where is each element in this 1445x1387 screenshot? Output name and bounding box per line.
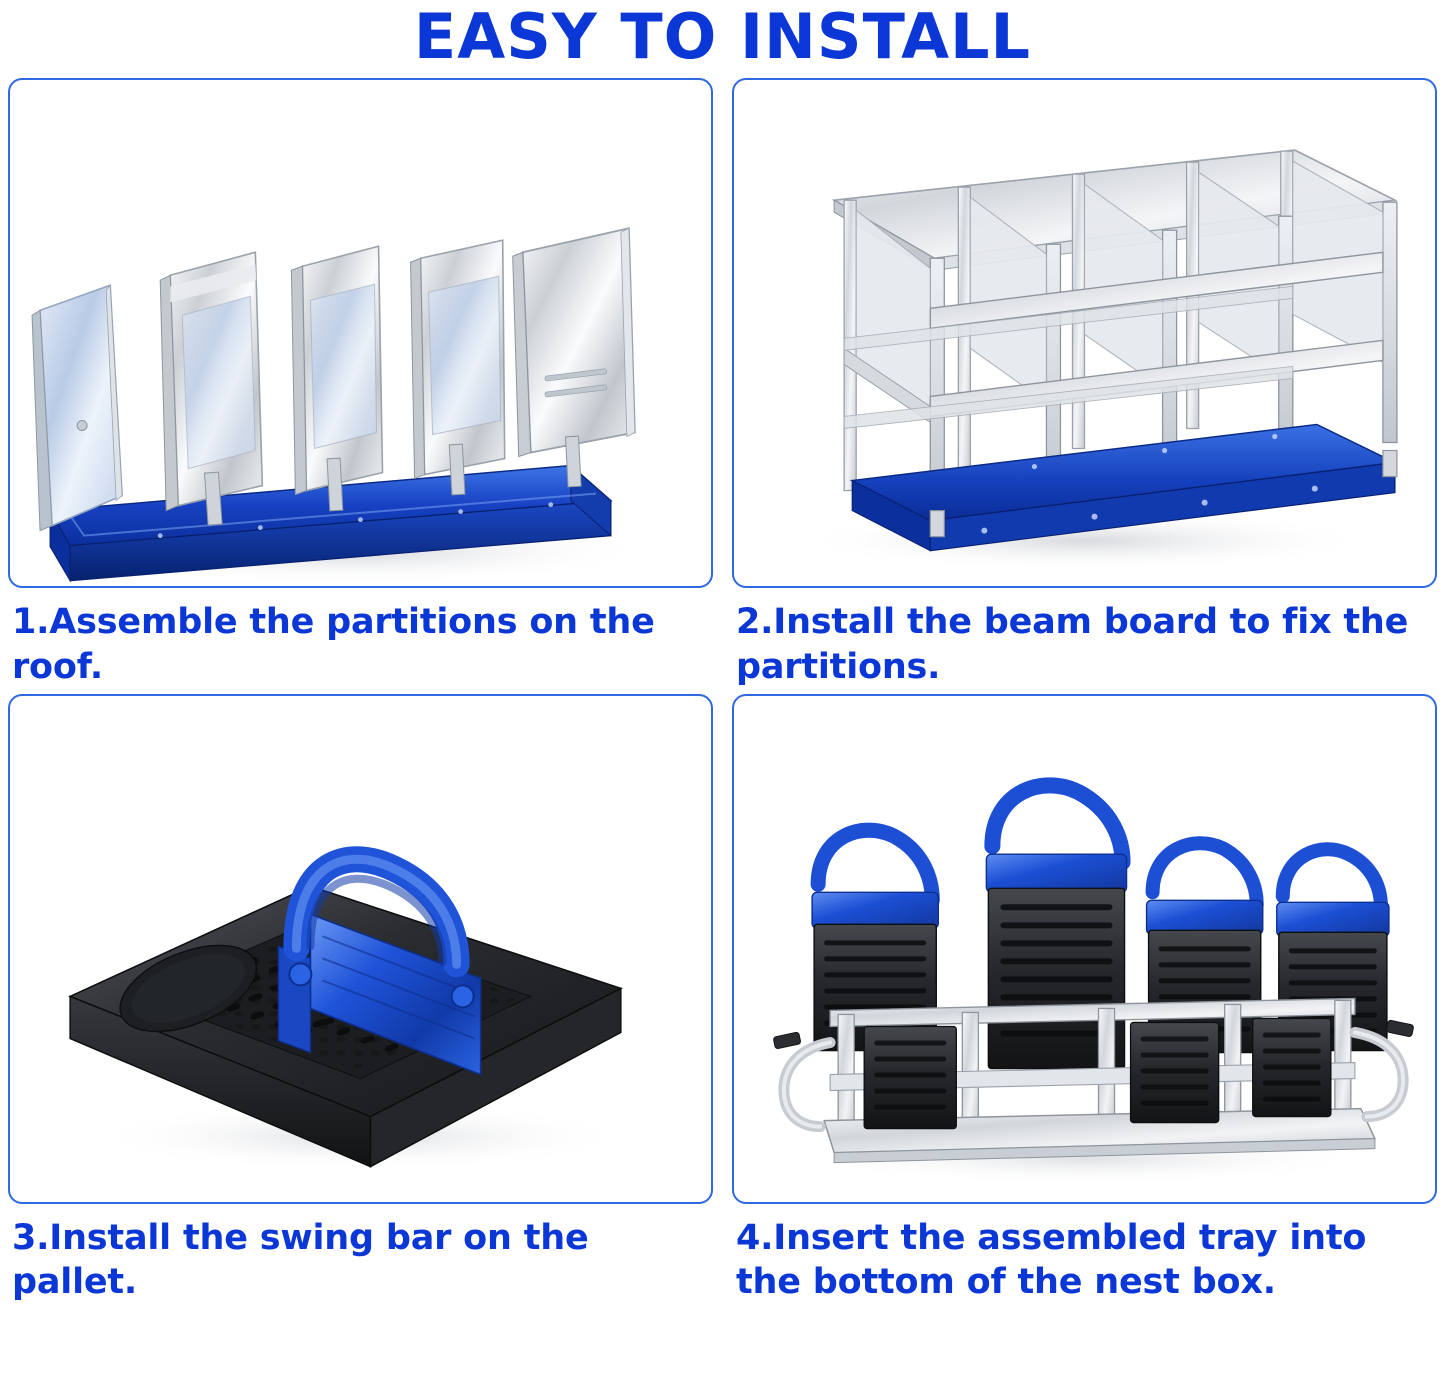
step-3-caption: 3.Install the swing bar on the pallet. bbox=[8, 1204, 713, 1306]
step-4-image bbox=[732, 694, 1437, 1204]
step-2-image bbox=[732, 78, 1437, 588]
step-3-cell: 3.Install the swing bar on the pallet. bbox=[0, 694, 721, 1306]
steps-grid: 1.Assemble the partitions on the roof. bbox=[0, 78, 1445, 1305]
step-4-cell: 4.Insert the assembled tray into the bot… bbox=[724, 694, 1445, 1306]
infographic-page: EASY TO INSTALL bbox=[0, 0, 1445, 1387]
step-1-image bbox=[8, 78, 713, 588]
step-1-cell: 1.Assemble the partitions on the roof. bbox=[0, 78, 721, 690]
step-4-caption: 4.Insert the assembled tray into the bot… bbox=[732, 1204, 1437, 1306]
step-1-caption: 1.Assemble the partitions on the roof. bbox=[8, 588, 713, 690]
step-1-illustration bbox=[10, 80, 711, 588]
step-2-illustration bbox=[734, 80, 1435, 588]
step-3-illustration bbox=[10, 696, 711, 1204]
step-4-illustration bbox=[734, 696, 1435, 1204]
page-title: EASY TO INSTALL bbox=[0, 0, 1445, 78]
step-3-image bbox=[8, 694, 713, 1204]
step-2-caption: 2.Install the beam board to fix the part… bbox=[732, 588, 1437, 690]
step-2-cell: 2.Install the beam board to fix the part… bbox=[724, 78, 1445, 690]
